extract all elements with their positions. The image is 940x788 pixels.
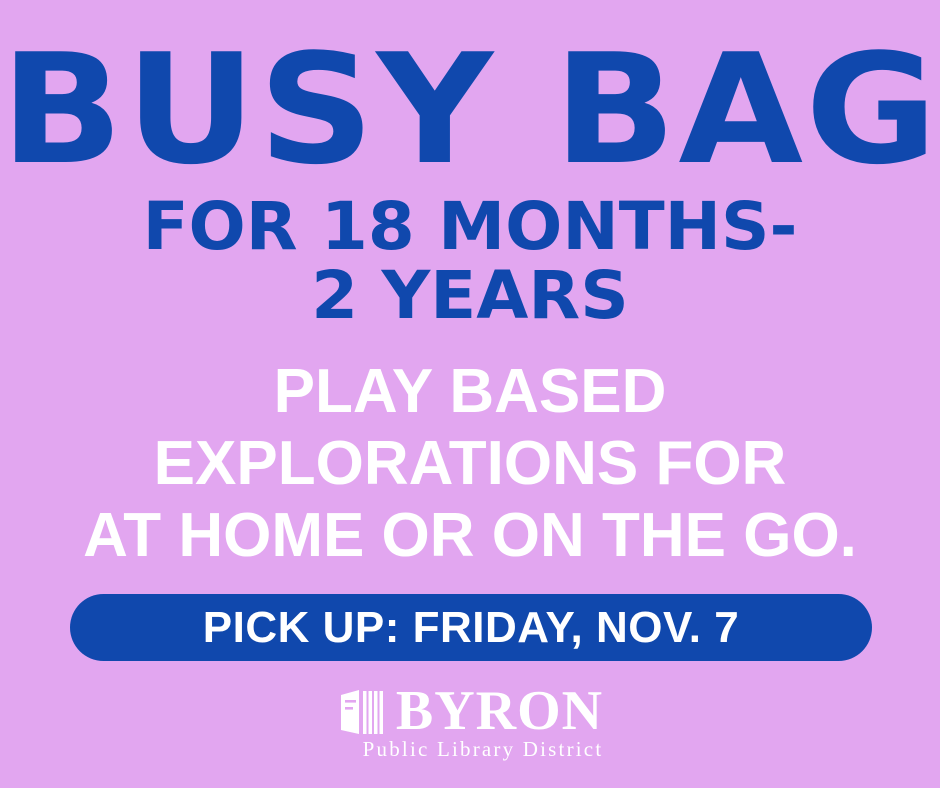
description-line-2: EXPLORATIONS FOR: [0, 428, 940, 500]
pickup-date-label: PICK UP: FRIDAY, NOV. 7: [203, 606, 739, 650]
description-text: PLAY BASED EXPLORATIONS FOR AT HOME OR O…: [0, 356, 940, 572]
logo-row: BYRON: [337, 686, 603, 738]
logo-wordmark: BYRON: [396, 686, 603, 738]
poster-canvas: BUSY BAG FOR 18 MONTHS- 2 YEARS PLAY BAS…: [0, 0, 940, 788]
description-line-1: PLAY BASED: [0, 356, 940, 428]
book-icon: [337, 688, 389, 736]
age-range-line-2: 2 YEARS: [0, 262, 940, 331]
library-logo: BYRON Public Library District: [0, 686, 940, 760]
page-title: BUSY BAG: [0, 34, 940, 186]
logo-tagline: Public Library District: [363, 739, 604, 760]
pickup-banner: PICK UP: FRIDAY, NOV. 7: [70, 594, 872, 661]
description-line-3: AT HOME OR ON THE GO.: [0, 500, 940, 572]
age-range-line-1: FOR 18 MONTHS-: [0, 193, 940, 262]
age-range-subtitle: FOR 18 MONTHS- 2 YEARS: [0, 193, 940, 330]
